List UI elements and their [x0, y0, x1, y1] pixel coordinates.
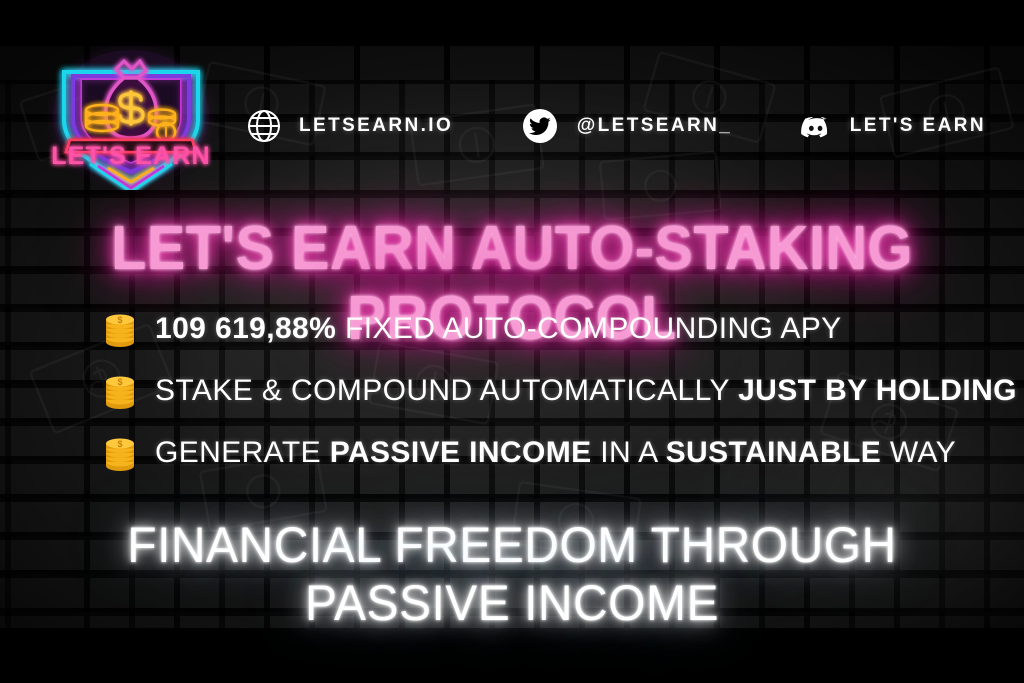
social-link-discord[interactable]: LET'S EARN	[799, 109, 986, 143]
feature-text: 109 619,88% FIXED AUTO-COMPOUNDING APY	[155, 312, 842, 346]
svg-text:$: $	[117, 439, 122, 449]
tagline: FINANCIAL FREEDOM THROUGH PASSIVE INCOME	[20, 516, 1003, 632]
svg-text:$: $	[117, 315, 122, 325]
feature-text-part: STAKE & COMPOUND AUTOMATICALLY	[155, 374, 738, 407]
coin-stack-icon: $	[103, 307, 137, 351]
discord-icon	[799, 109, 833, 143]
list-item: $ STAKE & COMPOUND AUTOMATICALLY JUST BY…	[103, 362, 983, 420]
social-links-bar: LETSEARN.IO @LETSEARN_ LET'S EARN	[246, 100, 986, 152]
globe-icon	[246, 108, 282, 144]
feature-text-part: JUST BY HOLDING	[738, 374, 1017, 407]
social-label-website: LETSEARN.IO	[299, 115, 453, 137]
feature-text-part: IN A	[592, 436, 666, 469]
feature-text: GENERATE PASSIVE INCOME IN A SUSTAINABLE…	[155, 436, 956, 470]
social-label-discord: LET'S EARN	[850, 115, 986, 137]
list-item: $ GENERATE PASSIVE INCOME IN A SUSTAINAB…	[103, 424, 983, 482]
feature-text-part: GENERATE	[155, 436, 330, 469]
list-item: $ 109 619,88% FIXED AUTO-COMPOUNDING APY	[103, 300, 983, 358]
feature-text-part: SUSTAINABLE	[666, 436, 882, 469]
coin-stack-icon: $	[103, 369, 137, 413]
feature-text-part: WAY	[881, 436, 956, 469]
social-link-website[interactable]: LETSEARN.IO	[246, 108, 453, 144]
coin-stack-icon: $	[103, 431, 137, 475]
feature-text-part: FIXED AUTO-COMPOUNDING APY	[336, 312, 841, 345]
svg-text:$: $	[117, 377, 122, 387]
bottom-letterbox-band	[0, 628, 1024, 683]
social-label-twitter: @LETSEARN_	[577, 115, 733, 137]
logo-wordmark: LET'S EARN	[51, 142, 211, 170]
social-link-twitter[interactable]: @LETSEARN_	[520, 106, 733, 146]
promo-banner: LET'S EARN LETSEARN.IO	[0, 0, 1024, 683]
lets-earn-logo[interactable]: LET'S EARN	[46, 42, 216, 190]
feature-text-part: 109 619,88%	[155, 312, 336, 345]
twitter-icon	[520, 106, 560, 146]
feature-list: $ 109 619,88% FIXED AUTO-COMPOUNDING APY	[103, 300, 983, 486]
feature-text: STAKE & COMPOUND AUTOMATICALLY JUST BY H…	[155, 374, 1017, 408]
feature-text-part: PASSIVE INCOME	[330, 436, 592, 469]
top-letterbox-band	[0, 0, 1024, 42]
